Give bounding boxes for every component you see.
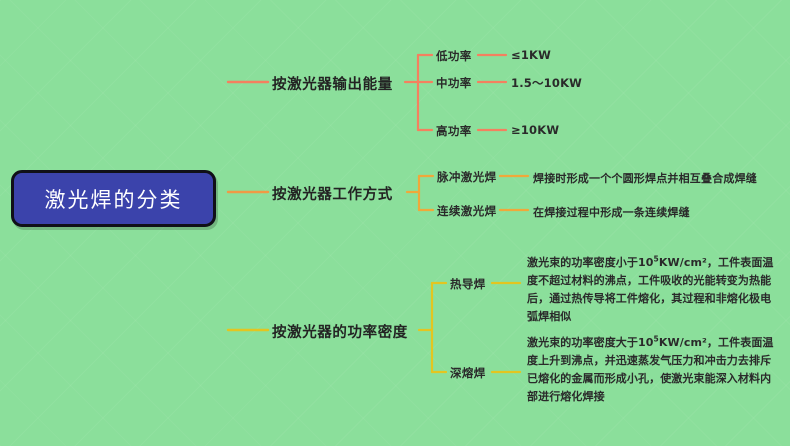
- leaf-label-pulsed-laser-welding[interactable]: 脉冲激光焊: [437, 169, 497, 185]
- branch-label-working-mode[interactable]: 按激光器工作方式: [272, 183, 393, 204]
- paragraph-conduction-welding: 激光束的功率密度小于105KW/cm²，工件表面温度不超过材料的沸点，工件吸收的…: [527, 254, 779, 326]
- paragraph-deep-penetration-welding: 激光束的功率密度大于105KW/cm²，工件表面温度上升到沸点，并迅速蒸发气压力…: [527, 334, 779, 406]
- leaf-label-conduction-welding[interactable]: 热导焊: [450, 276, 486, 292]
- value-low-power: ≤1KW: [511, 48, 551, 62]
- paragraph-conduction-prefix: 激光束的功率密度小于10: [527, 256, 654, 269]
- leaf-label-low-power[interactable]: 低功率: [436, 48, 472, 64]
- paragraph-deep-prefix: 激光束的功率密度大于10: [527, 336, 654, 349]
- root-node-label: 激光焊的分类: [45, 184, 183, 214]
- leaf-label-medium-power[interactable]: 中功率: [436, 75, 472, 91]
- leaf-label-high-power[interactable]: 高功率: [436, 123, 472, 139]
- note-pulsed-laser-welding: 焊接时形成一个个圆形焊点并相互叠合成焊缝: [533, 170, 757, 186]
- note-continuous-laser-welding: 在焊接过程中形成一条连续焊缝: [533, 204, 690, 220]
- value-medium-power: 1.5～10KW: [511, 75, 582, 91]
- mindmap-canvas: 激光焊的分类 按激光器输出能量 低功率 中功率 高功率 ≤1KW 1.5～10K…: [0, 0, 790, 446]
- branch-label-power-density[interactable]: 按激光器的功率密度: [272, 321, 408, 342]
- branch-label-output-energy[interactable]: 按激光器输出能量: [272, 73, 393, 94]
- value-high-power: ≥10KW: [511, 123, 559, 137]
- leaf-label-continuous-laser-welding[interactable]: 连续激光焊: [437, 203, 497, 219]
- root-node[interactable]: 激光焊的分类: [11, 170, 216, 227]
- leaf-label-deep-penetration-welding[interactable]: 深熔焊: [450, 365, 486, 381]
